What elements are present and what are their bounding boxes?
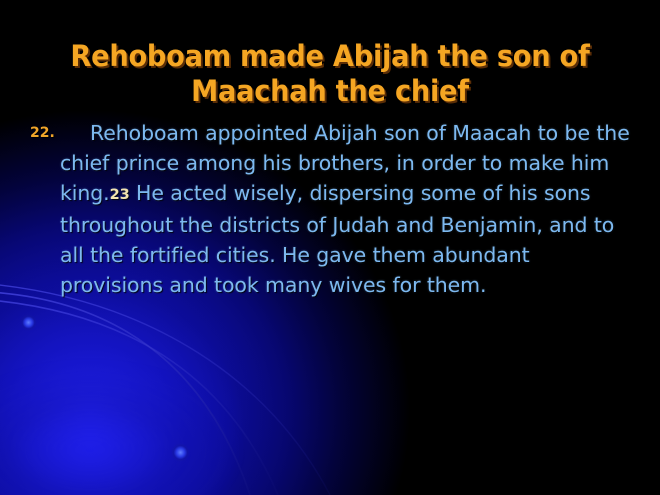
presentation-slide: Rehoboam made Abijah the son of Maachah … xyxy=(0,0,660,495)
verse-number-marker: 22. xyxy=(30,118,60,141)
verse-body-text: Rehoboam appointed Abijah son of Maacah … xyxy=(60,118,630,300)
slide-title: Rehoboam made Abijah the son of Maachah … xyxy=(42,39,617,109)
slide-content: Rehoboam made Abijah the son of Maachah … xyxy=(0,0,660,495)
slide-body: 22. Rehoboam appointed Abijah son of Maa… xyxy=(30,118,630,300)
verse-segment-two: He acted wisely, dispersing some of his … xyxy=(60,181,614,297)
verse-row: 22. Rehoboam appointed Abijah son of Maa… xyxy=(30,118,630,300)
subverse-number-marker: 23 xyxy=(110,187,130,203)
